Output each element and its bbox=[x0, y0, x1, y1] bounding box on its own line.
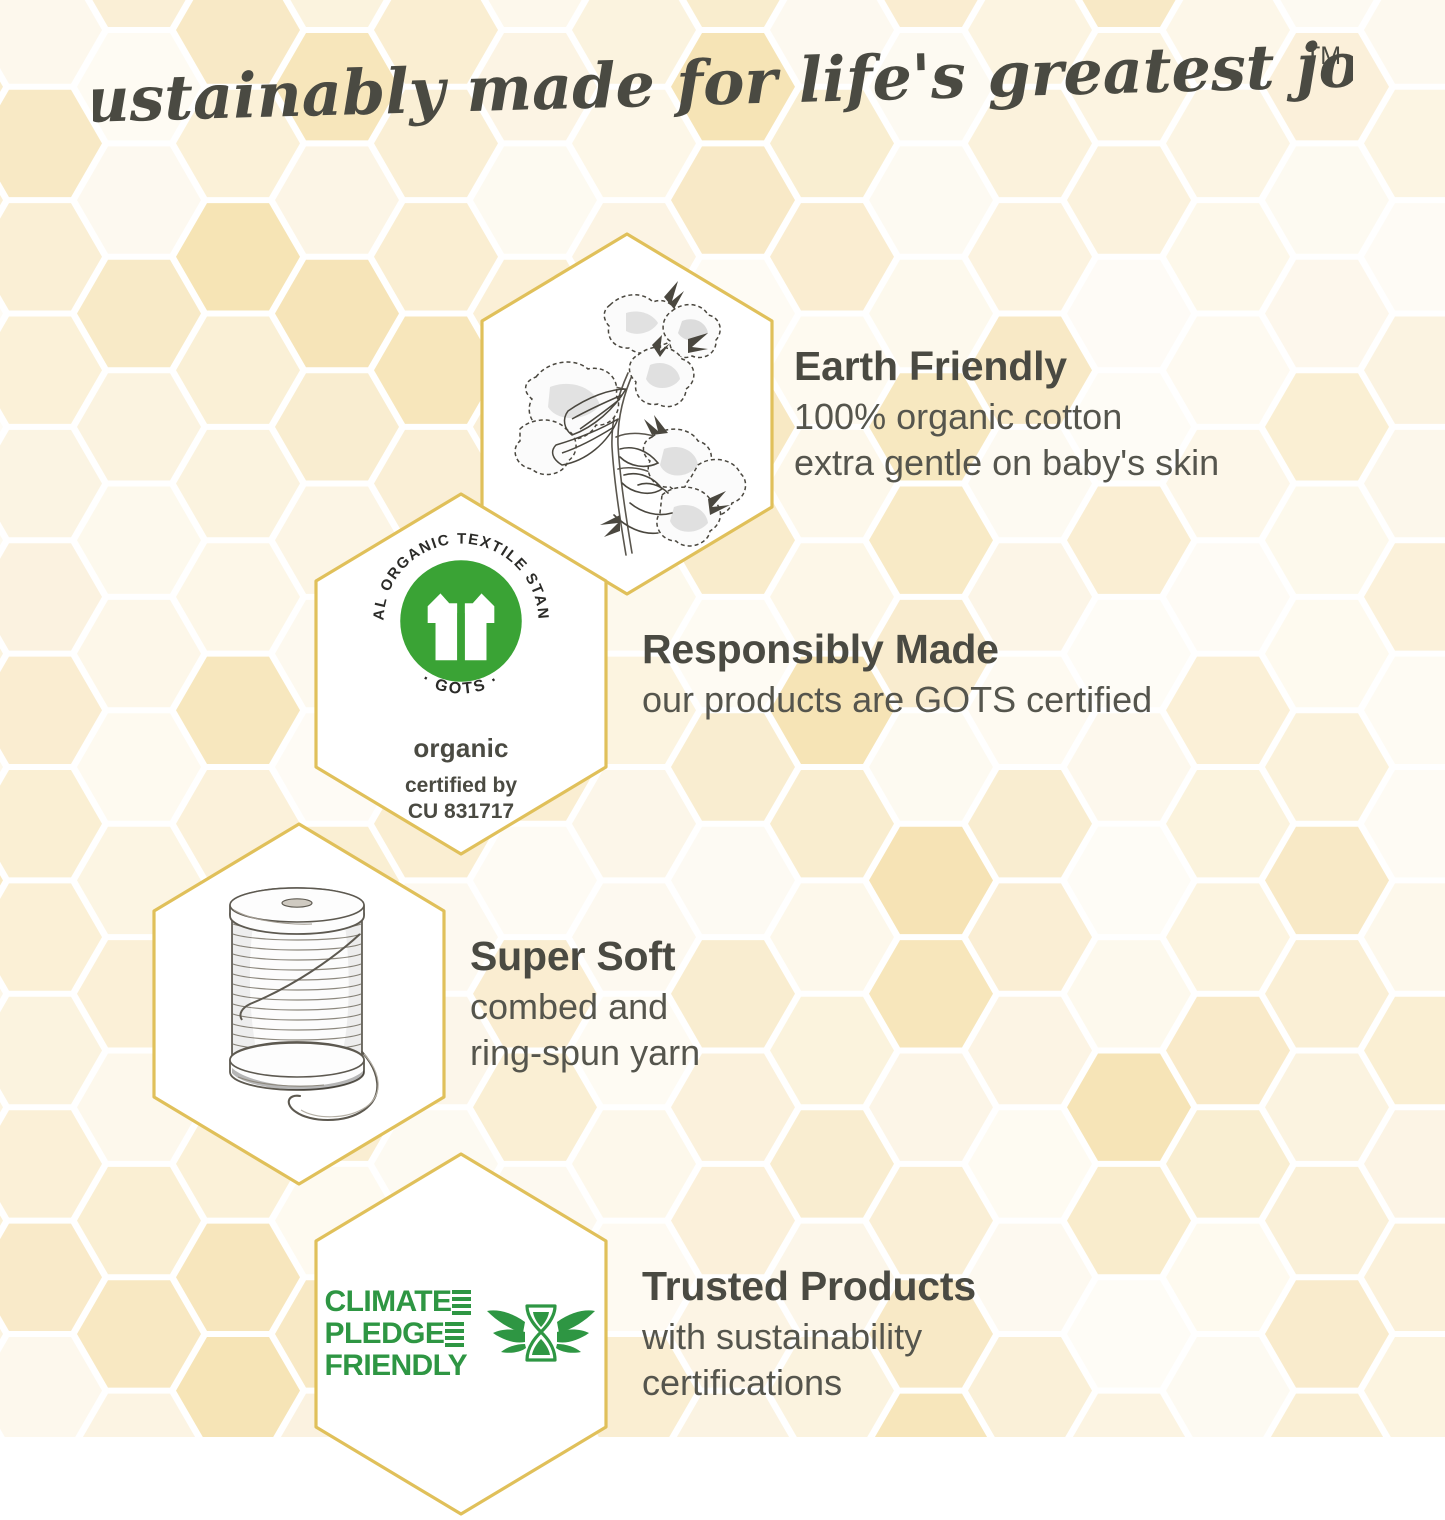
hex-card-responsibly-made: GLOBAL ORGANIC TEXTILE STANDARD · GOTS ·… bbox=[300, 488, 622, 860]
headline-text: sustainably made for life's greatest joy bbox=[93, 38, 1353, 134]
headline-banner: sustainably made for life's greatest joy… bbox=[0, 38, 1445, 134]
cpf-line-2: PLEDGE bbox=[325, 1319, 445, 1349]
headline-trademark: TM bbox=[1304, 42, 1340, 70]
feature-description: combed and ring-spun yarn bbox=[470, 984, 700, 1076]
hex-card-super-soft bbox=[138, 818, 460, 1190]
cpf-line-1: CLIMATE bbox=[325, 1287, 452, 1317]
feature-row-super-soft: Super Soft combed and ring-spun yarn bbox=[138, 818, 700, 1190]
wing-left bbox=[487, 1310, 526, 1352]
climate-pledge-friendly-icon: CLIMATE PLEDGE FRIENDLY bbox=[325, 1287, 598, 1381]
feature-text-trusted-products: Trusted Products with sustainability cer… bbox=[622, 1262, 976, 1407]
feature-description: 100% organic cotton extra gentle on baby… bbox=[794, 394, 1219, 486]
feature-text-super-soft: Super Soft combed and ring-spun yarn bbox=[460, 932, 700, 1077]
headline-script-text: sustainably made for life's greatest joy… bbox=[93, 38, 1353, 134]
feature-text-earth-friendly: Earth Friendly 100% organic cotton extra… bbox=[788, 342, 1219, 487]
thread-spool-sketch-icon bbox=[184, 874, 414, 1134]
hex-card-trusted-products: CLIMATE PLEDGE FRIENDLY bbox=[300, 1148, 622, 1520]
cpf-line-3: FRIENDLY bbox=[325, 1351, 467, 1381]
gots-green-disc bbox=[400, 561, 522, 683]
feature-row-trusted-products: CLIMATE PLEDGE FRIENDLY bbox=[300, 1148, 976, 1520]
feature-title: Super Soft bbox=[470, 932, 700, 980]
cpf-wordmark: CLIMATE PLEDGE FRIENDLY bbox=[325, 1287, 472, 1381]
gots-certification-icon: GLOBAL ORGANIC TEXTILE STANDARD · GOTS ·… bbox=[363, 523, 559, 824]
cpf-bars-icon bbox=[452, 1290, 471, 1315]
feature-title: Earth Friendly bbox=[794, 342, 1219, 390]
feature-row-responsibly-made: GLOBAL ORGANIC TEXTILE STANDARD · GOTS ·… bbox=[300, 488, 1152, 860]
feature-description: with sustainability certifications bbox=[642, 1314, 976, 1406]
cpf-bars-icon bbox=[445, 1322, 464, 1347]
wing-right bbox=[556, 1310, 595, 1352]
gots-seal-icon: GLOBAL ORGANIC TEXTILE STANDARD · GOTS · bbox=[363, 523, 559, 719]
feature-description: our products are GOTS certified bbox=[642, 677, 1152, 723]
feature-title: Responsibly Made bbox=[642, 625, 1152, 673]
gots-certified-by-label: certified by bbox=[405, 773, 517, 799]
feature-title: Trusted Products bbox=[642, 1262, 976, 1310]
winged-hourglass-icon bbox=[485, 1292, 597, 1376]
feature-text-responsibly-made: Responsibly Made our products are GOTS c… bbox=[622, 625, 1152, 723]
gots-organic-label: organic bbox=[413, 733, 508, 764]
